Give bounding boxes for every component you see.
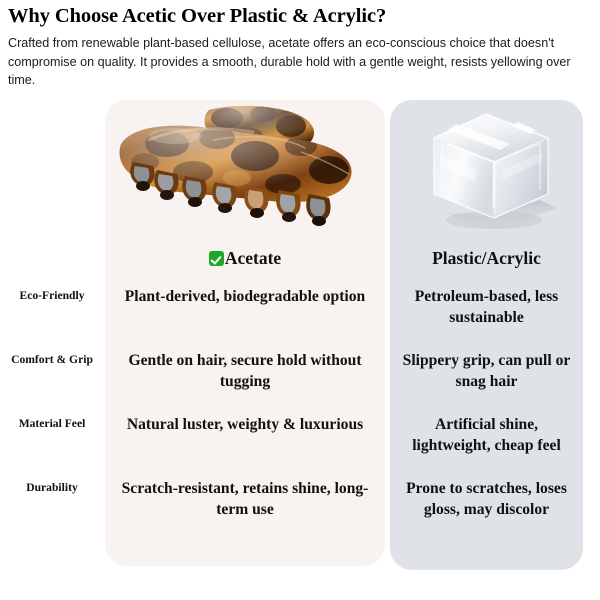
cell-acetate-durability: Scratch-resistant, retains shine, long-t… bbox=[113, 478, 377, 520]
comparison-board: Acetate Plastic/Acrylic Eco-Friendly Pla… bbox=[0, 100, 600, 600]
column-header-acetate-label: Acetate bbox=[225, 248, 281, 268]
cell-plastic-durability: Prone to scratches, loses gloss, may dis… bbox=[396, 478, 577, 520]
cell-plastic-material-feel: Artificial shine, lightweight, cheap fee… bbox=[396, 414, 577, 456]
column-header-plastic-label: Plastic/Acrylic bbox=[432, 248, 541, 268]
green-check-badge-icon bbox=[209, 251, 224, 266]
row-label-comfort-grip: Comfort & Grip bbox=[0, 350, 104, 370]
column-header-plastic: Plastic/Acrylic bbox=[390, 248, 583, 269]
cell-acetate-comfort-grip: Gentle on hair, secure hold without tugg… bbox=[113, 350, 377, 392]
row-label-durability: Durability bbox=[0, 478, 104, 498]
product-image-acetate bbox=[105, 100, 385, 240]
cell-plastic-comfort-grip: Slippery grip, can pull or snag hair bbox=[396, 350, 577, 392]
row-label-eco-friendly: Eco-Friendly bbox=[0, 286, 104, 306]
column-header-acetate: Acetate bbox=[105, 248, 385, 269]
page-title: Why Choose Acetic Over Plastic & Acrylic… bbox=[8, 0, 592, 27]
intro-paragraph: Crafted from renewable plant-based cellu… bbox=[8, 27, 588, 90]
product-image-plastic bbox=[390, 100, 583, 240]
row-label-material-feel: Material Feel bbox=[0, 414, 104, 434]
cell-acetate-eco-friendly: Plant-derived, biodegradable option bbox=[113, 286, 377, 307]
tortoiseshell-hair-claw-clip-icon bbox=[105, 100, 385, 240]
page-header: Why Choose Acetic Over Plastic & Acrylic… bbox=[8, 0, 592, 90]
cell-plastic-eco-friendly: Petroleum-based, less sustainable bbox=[396, 286, 577, 328]
cell-acetate-material-feel: Natural luster, weighty & luxurious bbox=[113, 414, 377, 435]
clear-acrylic-cube-icon bbox=[390, 100, 583, 240]
